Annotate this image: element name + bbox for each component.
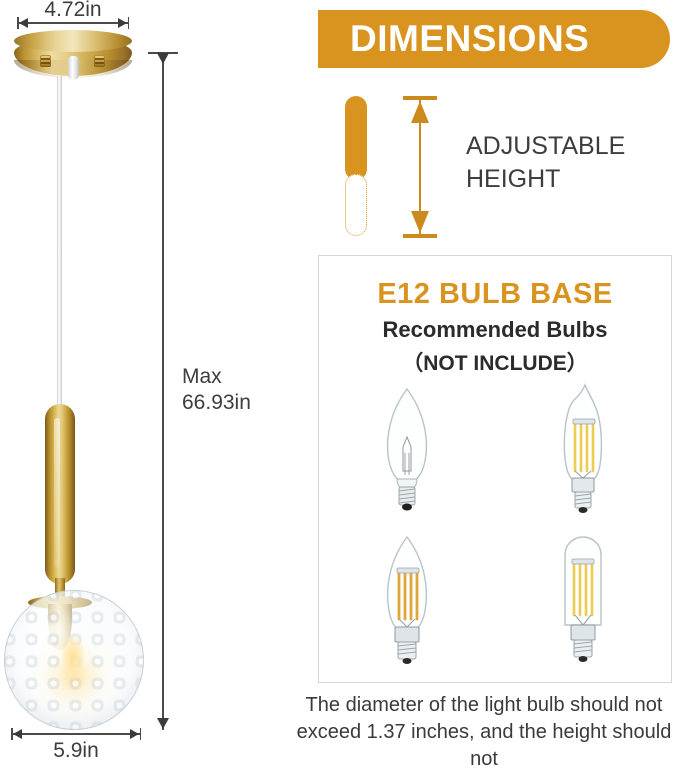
dimensions-infographic: 4.72in 5.9in [0,0,679,773]
arrow-cap-bottom [403,234,437,238]
bulb-size-caption: The diameter of the light bulb should no… [288,692,679,773]
bulb-box-title: E12 BULB BASE [319,278,671,311]
adjustable-height-label: ADJUSTABLE HEIGHT [466,130,625,196]
canopy-top-face [14,30,132,52]
max-height-label: Max 66.93in [182,364,251,416]
bulb-cell-3 [319,524,495,674]
adjustable-height-section: ADJUSTABLE HEIGHT [318,88,670,240]
width-dimension-line [18,22,128,24]
double-arrow-icon [403,96,437,238]
incandescent-torpedo-candle-bulb-icon [359,379,455,519]
flame-tip-led-filament-bulb-icon [535,379,631,519]
diameter-dimension-label: 5.9in [12,739,140,763]
height-dimension-line [162,52,164,730]
candle-led-filament-bulb-icon [359,529,455,669]
bulb-cell-4 [495,524,671,674]
dimensions-banner: DIMENSIONS [318,10,670,68]
canopy-screw-left [40,55,51,67]
bulb-box-subtitle: Recommended Bulbs [319,317,671,343]
recommended-bulbs-grid [319,374,671,674]
max-height-line2: 66.93in [182,390,251,416]
globe-outline [4,590,144,730]
adjustable-height-line1: ADJUSTABLE [466,130,625,163]
arrow-right-icon [118,18,127,28]
arrow-left-icon [19,18,28,28]
arrow-up-icon [411,101,429,123]
max-height-line1: Max [182,364,251,390]
tubular-led-filament-bulb-icon [535,529,631,669]
canopy-screw-right [94,55,105,67]
brass-rod-highlight [54,418,60,568]
caption-line-2: exceed 1.37 inches, and the height shoul… [288,719,679,773]
bulb-box-note: （NOT INCLUDE） [319,347,671,377]
banner-title: DIMENSIONS [318,18,589,60]
bulb-cell-1 [319,374,495,524]
e12-bulb-base-box: E12 BULB BASE Recommended Bulbs （NOT INC… [318,255,672,683]
adjustable-rod-solid-icon [345,96,367,180]
caption-line-1: The diameter of the light bulb should no… [288,692,679,719]
product-illustration: 4.72in 5.9in [0,0,300,773]
width-dimension-label: 4.72in [18,0,128,22]
cord-grip [68,56,79,80]
ceiling-canopy [14,30,132,82]
adjustable-height-line2: HEIGHT [466,163,625,196]
bulb-cell-2 [495,374,671,524]
arrow-left-icon [13,729,22,739]
diameter-dimension-line [12,733,140,735]
brass-rod [45,404,75,584]
hanging-cord [57,76,62,406]
adjustable-rod-extension-icon [345,174,367,236]
arrow-down-icon [157,718,169,729]
arrow-down-icon [411,211,429,233]
arrow-down-icon [157,53,169,64]
arrow-right-icon [130,729,139,739]
